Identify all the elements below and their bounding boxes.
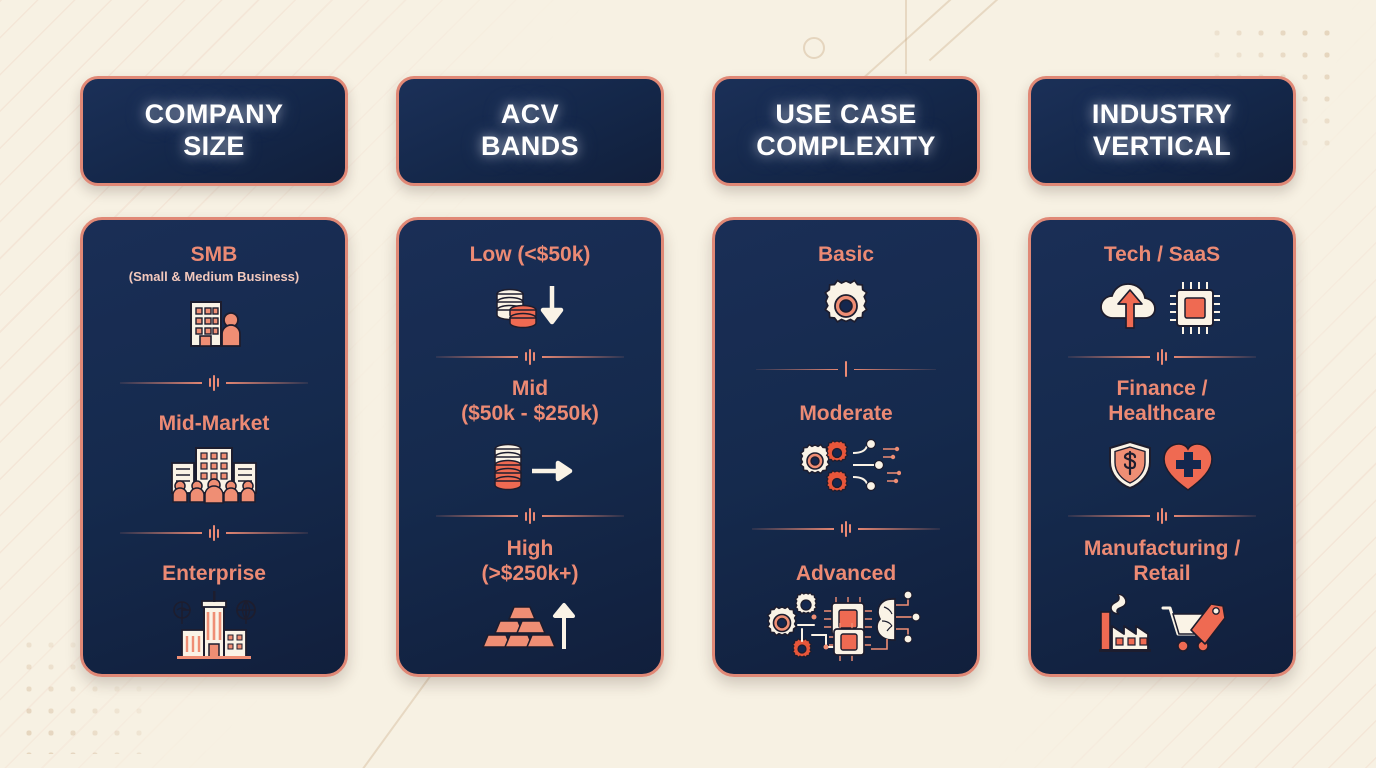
divider-ornament (525, 508, 535, 524)
divider-rule-right (1174, 515, 1256, 517)
tier-divider (1045, 508, 1279, 524)
tier-divider (97, 525, 331, 541)
column-body-company-size: SMB (Small & Medium Business) (80, 217, 348, 677)
divider-rule-right (854, 369, 936, 371)
divider-rule-right (542, 356, 624, 358)
tier-label: Basic (818, 242, 874, 267)
tier-mid-market[interactable]: Mid-Market (97, 411, 331, 506)
column-body-industry-vertical: Tech / SaaS (1028, 217, 1296, 677)
divider-ornament (525, 349, 535, 365)
tier-divider (729, 361, 963, 377)
tier-manufacturing-retail[interactable]: Manufacturing / Retail (1045, 536, 1279, 656)
segmentation-board: COMPANY SIZE SMB (Small & Medium Busines… (0, 0, 1376, 768)
tier-divider (413, 349, 647, 365)
column-header-company-size[interactable]: COMPANY SIZE (80, 76, 348, 186)
divider-rule-right (542, 515, 624, 517)
factory-shopping-cart-tag-icon (1097, 594, 1227, 656)
column-header-industry-vertical[interactable]: INDUSTRY VERTICAL (1028, 76, 1296, 186)
tier-basic[interactable]: Basic (729, 242, 963, 337)
office-buildings-people-group-icon (166, 444, 262, 506)
divider-rule-right (226, 382, 308, 384)
divider-rule-left (756, 369, 838, 371)
column-header-acv-bands[interactable]: ACV BANDS (396, 76, 664, 186)
tier-label: Tech / SaaS (1104, 242, 1220, 267)
column-header-label: USE CASE COMPLEXITY (756, 99, 936, 162)
divider-rule-left (752, 528, 834, 530)
tier-mid[interactable]: Mid ($50k - $250k) (413, 376, 647, 496)
coin-stack-right-arrow-icon (482, 435, 578, 497)
tier-high[interactable]: High (>$250k+) (413, 536, 647, 656)
tier-divider (729, 521, 963, 537)
tier-label: Mid ($50k - $250k) (461, 376, 599, 426)
divider-ornament (1157, 508, 1167, 524)
column-body-acv-bands: Low (<$50k) (396, 217, 664, 677)
divider-rule-right (858, 528, 940, 530)
tier-label: Finance / Healthcare (1108, 376, 1215, 426)
column-use-case-complexity: USE CASE COMPLEXITY Basic (712, 76, 980, 768)
divider-rule-left (120, 532, 202, 534)
divider-rule-left (436, 515, 518, 517)
tier-smb[interactable]: SMB (Small & Medium Business) (97, 242, 331, 355)
tier-moderate[interactable]: Moderate (729, 401, 963, 496)
tier-advanced[interactable]: Advanced (729, 561, 963, 656)
divider-ornament (841, 521, 851, 537)
tier-low[interactable]: Low (<$50k) (413, 242, 647, 337)
tier-label: High (>$250k+) (482, 536, 579, 586)
dollar-shield-heart-cross-icon (1106, 435, 1218, 497)
column-header-label: COMPANY SIZE (145, 99, 284, 162)
divider-rule-left (1068, 356, 1150, 358)
divider-ornament (845, 361, 847, 377)
tier-tech-saas[interactable]: Tech / SaaS (1045, 242, 1279, 337)
tier-label: Moderate (799, 401, 892, 426)
divider-ornament (209, 375, 219, 391)
tier-label: Manufacturing / Retail (1084, 536, 1240, 586)
divider-ornament (1157, 349, 1167, 365)
cloud-upload-microchip-icon (1097, 275, 1227, 337)
column-header-use-case-complexity[interactable]: USE CASE COMPLEXITY (712, 76, 980, 186)
tier-label: Mid-Market (159, 411, 270, 436)
gold-bars-up-arrow-icon (482, 594, 578, 656)
column-header-label: INDUSTRY VERTICAL (1092, 99, 1232, 162)
divider-ornament (209, 525, 219, 541)
divider-rule-right (1174, 356, 1256, 358)
tier-divider (413, 508, 647, 524)
column-company-size: COMPANY SIZE SMB (Small & Medium Busines… (80, 76, 348, 768)
small-office-building-person-icon (183, 293, 245, 355)
tier-sublabel: (Small & Medium Business) (129, 269, 299, 285)
column-header-label: ACV BANDS (481, 99, 579, 162)
tier-divider (1045, 349, 1279, 365)
column-industry-vertical: INDUSTRY VERTICAL Tech / SaaS (1028, 76, 1296, 768)
gears-circuit-nodes-icon (791, 435, 901, 497)
divider-rule-left (120, 382, 202, 384)
divider-rule-left (436, 356, 518, 358)
single-gear-icon (819, 275, 873, 337)
column-acv-bands: ACV BANDS Low (<$50k) (396, 76, 664, 768)
gears-chips-ai-brain-circuit-icon (756, 594, 936, 656)
tier-enterprise[interactable]: Enterprise (97, 561, 331, 656)
tier-label: SMB (191, 242, 238, 267)
tier-label: Enterprise (162, 561, 266, 586)
divider-rule-right (226, 532, 308, 534)
divider-rule-left (1068, 515, 1150, 517)
tier-divider (97, 375, 331, 391)
coin-stack-down-arrow-icon (490, 275, 570, 337)
tier-finance-healthcare[interactable]: Finance / Healthcare (1045, 376, 1279, 496)
column-body-use-case-complexity: Basic Moderate (712, 217, 980, 677)
corporate-skyscraper-globe-icon (169, 594, 259, 656)
tier-label: Low (<$50k) (470, 242, 591, 267)
tier-label: Advanced (796, 561, 896, 586)
